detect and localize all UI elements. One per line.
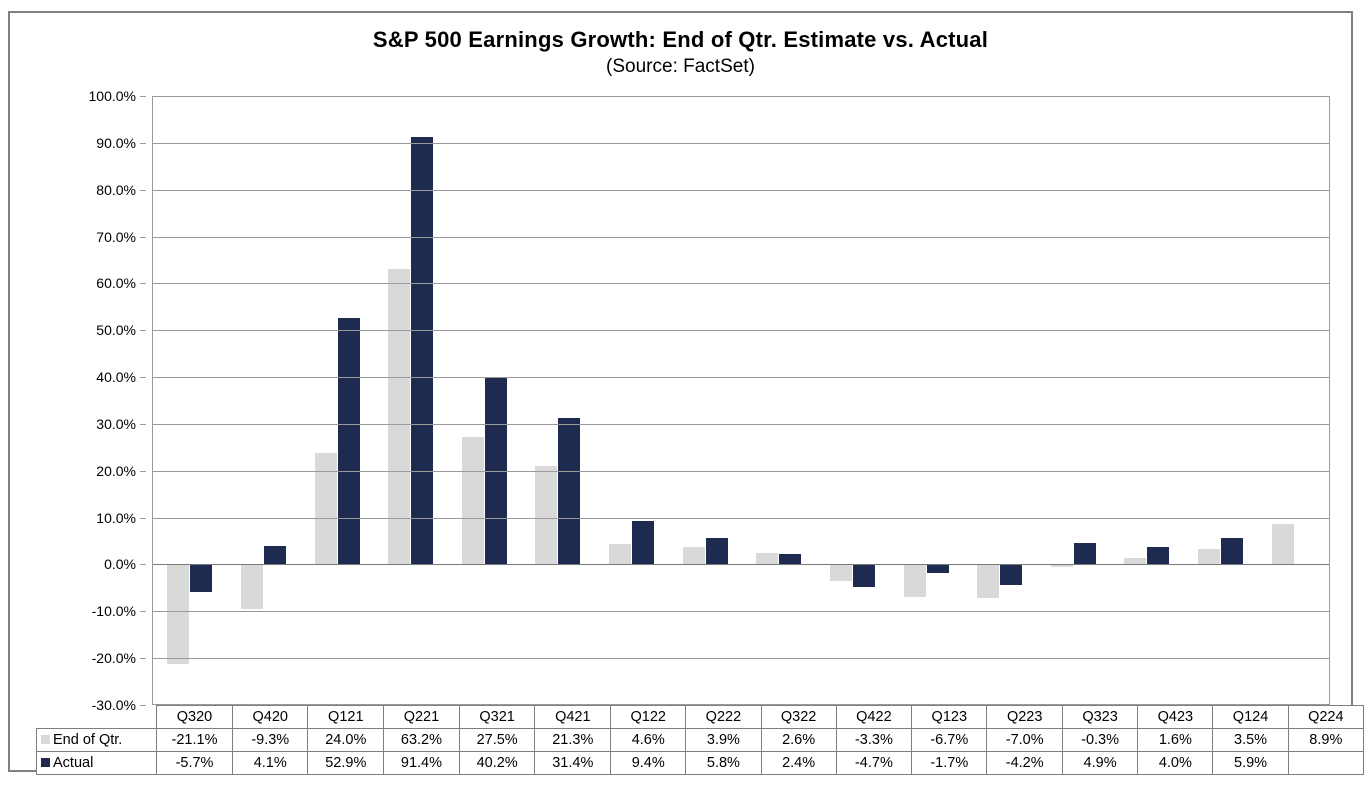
- table-corner-cell: [37, 706, 157, 729]
- gridline: [153, 424, 1329, 425]
- table-header-row: Q320Q420Q121Q221Q321Q421Q122Q222Q322Q422…: [37, 706, 1364, 729]
- y-tick-mark: [140, 96, 146, 97]
- table-col-header: Q223: [987, 706, 1062, 729]
- gridline: [153, 237, 1329, 238]
- gridline: [153, 518, 1329, 519]
- plot-area: [152, 96, 1330, 705]
- gridline: [153, 330, 1329, 331]
- table-cell-actual: 52.9%: [308, 752, 384, 775]
- table-cell-estimate: 1.6%: [1138, 729, 1213, 752]
- bar-Q121-actual: [338, 318, 360, 566]
- table-row-estimate: End of Qtr. -21.1%-9.3%24.0%63.2%27.5%21…: [37, 729, 1364, 752]
- bar-Q421-actual: [558, 418, 580, 565]
- table-col-header: Q322: [761, 706, 836, 729]
- gridline: [153, 190, 1329, 191]
- y-tick-mark: [140, 143, 146, 144]
- table-cell-actual: 5.9%: [1213, 752, 1288, 775]
- gridline: [153, 471, 1329, 472]
- legend-row-estimate: End of Qtr.: [37, 729, 157, 752]
- data-table: Q320Q420Q121Q221Q321Q421Q122Q222Q322Q422…: [36, 705, 1364, 775]
- table-col-header: Q323: [1062, 706, 1137, 729]
- table-col-header: Q224: [1288, 706, 1363, 729]
- table-cell-actual: 31.4%: [535, 752, 611, 775]
- legend-label-actual: Actual: [53, 755, 93, 771]
- y-tick-label: -10.0%: [92, 603, 136, 619]
- table-cell-estimate: 3.9%: [686, 729, 761, 752]
- table-row-actual: Actual -5.7%4.1%52.9%91.4%40.2%31.4%9.4%…: [37, 752, 1364, 775]
- table-cell-estimate: -9.3%: [233, 729, 308, 752]
- table-col-header: Q122: [611, 706, 686, 729]
- bar-Q321-estimate: [462, 437, 484, 566]
- bar-Q221-estimate: [388, 269, 410, 565]
- table-cell-actual: [1288, 752, 1363, 775]
- table-col-header: Q221: [384, 706, 460, 729]
- y-tick-mark: [140, 237, 146, 238]
- table-cell-estimate: -21.1%: [156, 729, 232, 752]
- legend-swatch-estimate-icon: [41, 735, 50, 744]
- table-cell-actual: 4.1%: [233, 752, 308, 775]
- table-col-header: Q423: [1138, 706, 1213, 729]
- gridline: [153, 377, 1329, 378]
- gridline: [153, 611, 1329, 612]
- table-cell-estimate: 8.9%: [1288, 729, 1363, 752]
- table-cell-estimate: -6.7%: [912, 729, 987, 752]
- table-cell-estimate: 27.5%: [459, 729, 535, 752]
- table-col-header: Q121: [308, 706, 384, 729]
- y-tick-mark: [140, 471, 146, 472]
- legend-swatch-actual-icon: [41, 758, 50, 767]
- table-col-header: Q320: [156, 706, 232, 729]
- y-tick-mark: [140, 190, 146, 191]
- table-cell-actual: 9.4%: [611, 752, 686, 775]
- table-cell-actual: 40.2%: [459, 752, 535, 775]
- y-tick-label: 100.0%: [89, 88, 136, 104]
- table-cell-actual: -4.7%: [836, 752, 911, 775]
- gridline: [153, 143, 1329, 144]
- table-cell-estimate: -7.0%: [987, 729, 1062, 752]
- table-cell-estimate: 4.6%: [611, 729, 686, 752]
- table-cell-actual: -1.7%: [912, 752, 987, 775]
- y-axis: 100.0%90.0%80.0%70.0%60.0%50.0%40.0%30.0…: [8, 96, 146, 705]
- y-tick-mark: [140, 424, 146, 425]
- table-cell-estimate: -3.3%: [836, 729, 911, 752]
- bar-Q421-estimate: [535, 466, 557, 566]
- bar-Q122-estimate: [609, 544, 631, 566]
- y-tick-mark: [140, 283, 146, 284]
- bar-Q420-estimate: [241, 565, 263, 609]
- y-tick-label: 70.0%: [96, 229, 136, 245]
- legend-row-actual: Actual: [37, 752, 157, 775]
- y-tick-label: 60.0%: [96, 275, 136, 291]
- y-tick-label: -20.0%: [92, 650, 136, 666]
- bar-Q422-actual: [853, 565, 875, 587]
- title-block: S&P 500 Earnings Growth: End of Qtr. Est…: [8, 26, 1353, 80]
- table-cell-estimate: 63.2%: [384, 729, 460, 752]
- y-tick-label: 10.0%: [96, 510, 136, 526]
- y-tick-mark: [140, 330, 146, 331]
- bar-Q323-estimate: [1051, 565, 1073, 566]
- table-cell-actual: 2.4%: [761, 752, 836, 775]
- chart-subtitle: (Source: FactSet): [8, 54, 1353, 80]
- table-col-header: Q420: [233, 706, 308, 729]
- table-col-header: Q123: [912, 706, 987, 729]
- table-cell-estimate: 2.6%: [761, 729, 836, 752]
- y-tick-mark: [140, 518, 146, 519]
- table-cell-actual: -5.7%: [156, 752, 232, 775]
- gridline: [153, 658, 1329, 659]
- y-tick-label: 50.0%: [96, 322, 136, 338]
- bar-Q323-actual: [1074, 543, 1096, 566]
- bar-Q122-actual: [632, 521, 654, 565]
- bar-Q124-estimate: [1198, 549, 1220, 565]
- table-col-header: Q422: [836, 706, 911, 729]
- zero-line: [153, 564, 1329, 565]
- page-title: S&P 500 Earnings Growth: End of Qtr. Est…: [8, 26, 1353, 54]
- table-cell-estimate: 3.5%: [1213, 729, 1288, 752]
- table-cell-actual: 4.9%: [1062, 752, 1137, 775]
- bar-Q320-actual: [190, 565, 212, 592]
- table-cell-estimate: 24.0%: [308, 729, 384, 752]
- y-tick-label: 40.0%: [96, 369, 136, 385]
- y-tick-mark: [140, 658, 146, 659]
- bar-Q222-estimate: [683, 547, 705, 565]
- bar-Q124-actual: [1221, 538, 1243, 566]
- bar-Q123-actual: [927, 565, 949, 573]
- gridline: [153, 283, 1329, 284]
- table-cell-actual: 5.8%: [686, 752, 761, 775]
- y-tick-mark: [140, 377, 146, 378]
- bar-Q320-estimate: [167, 565, 189, 664]
- table-cell-actual: 91.4%: [384, 752, 460, 775]
- y-tick-label: 30.0%: [96, 416, 136, 432]
- chart-page: S&P 500 Earnings Growth: End of Qtr. Est…: [0, 0, 1364, 790]
- y-tick-label: 80.0%: [96, 182, 136, 198]
- bar-Q123-estimate: [904, 565, 926, 596]
- table-cell-actual: -4.2%: [987, 752, 1062, 775]
- bar-Q221-actual: [411, 137, 433, 565]
- bar-Q222-actual: [706, 538, 728, 565]
- table-cell-estimate: 21.3%: [535, 729, 611, 752]
- bar-Q420-actual: [264, 546, 286, 565]
- table-col-header: Q124: [1213, 706, 1288, 729]
- y-tick-mark: [140, 611, 146, 612]
- table-col-header: Q222: [686, 706, 761, 729]
- bar-Q223-estimate: [977, 565, 999, 598]
- y-tick-label: 20.0%: [96, 463, 136, 479]
- legend-label-estimate: End of Qtr.: [53, 732, 122, 748]
- bar-Q422-estimate: [830, 565, 852, 580]
- y-tick-label: 0.0%: [104, 556, 136, 572]
- table-col-header: Q421: [535, 706, 611, 729]
- y-tick-label: 90.0%: [96, 135, 136, 151]
- bar-Q423-actual: [1147, 547, 1169, 566]
- bars-layer: [153, 97, 1329, 704]
- bar-Q224-estimate: [1272, 524, 1294, 566]
- table-cell-actual: 4.0%: [1138, 752, 1213, 775]
- table-cell-estimate: -0.3%: [1062, 729, 1137, 752]
- y-tick-mark: [140, 564, 146, 565]
- table-col-header: Q321: [459, 706, 535, 729]
- bar-Q223-actual: [1000, 565, 1022, 585]
